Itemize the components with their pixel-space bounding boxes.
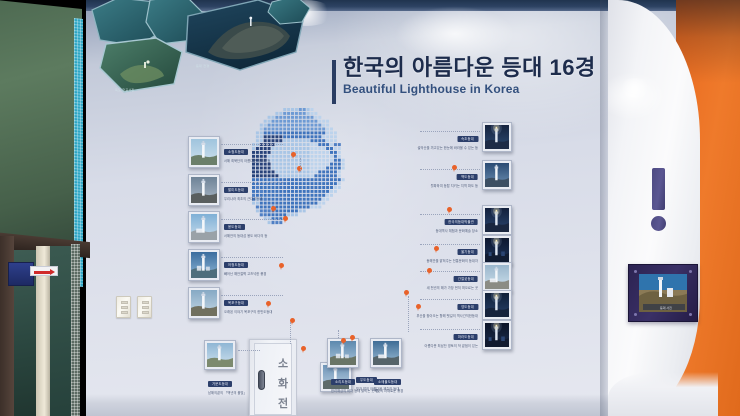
exclamation-dot	[651, 216, 666, 231]
fire-hydrant-label-3: 전	[273, 394, 293, 414]
pin-head	[416, 304, 421, 309]
lighthouse-name-badge: 백도등대	[457, 174, 478, 180]
lighthouse-name-badge: 소매물도등대	[374, 379, 401, 385]
lighthouse-label: 옹도등대서해안의 등대섬 옹도 바다의 등	[224, 215, 267, 239]
left-lighthouse-photo-2	[188, 211, 220, 243]
map-pin-3	[283, 216, 288, 225]
lighthouse-description: 우리나라 최초의 근대식등대	[224, 197, 262, 202]
right-lighthouse-photo-2	[482, 205, 512, 235]
arrow-sign-icon	[30, 266, 58, 276]
lighthouse-label: 소청도등대서해 최북단의 아름다운 낙조의 등	[224, 140, 270, 164]
photo-inner	[485, 323, 509, 347]
map-pin-4	[279, 263, 284, 272]
right-lighthouse-photo-5	[482, 290, 512, 320]
lighthouse-photo-art	[191, 252, 217, 278]
exhibit-title-block: 한국의 아름다운 등대 16경 Beautiful Lighthouse in …	[332, 56, 596, 96]
lighthouse-label: 속초등대설악산을 끼고있는 한눈에 바라볼 수 있는 등	[418, 127, 479, 151]
lighthouse-photo-art	[485, 208, 509, 232]
exclamation-mark-icon	[646, 168, 672, 230]
lighthouse-description: 설악산을 끼고있는 한눈에 바라볼 수 있는 등	[418, 146, 479, 151]
map-pin-12	[427, 268, 432, 277]
right-lighthouse-photo-6	[482, 320, 512, 350]
lighthouse-name-badge: 목포구등대	[224, 300, 248, 306]
mosaic-tile-strip-lower	[71, 244, 80, 416]
lighthouse-name-badge: 옹도등대	[224, 224, 245, 230]
lighthouse-description: 부산을 찾아오는 항해 뱃길의 역사간직한등대	[416, 314, 478, 319]
leader-line-vertical	[408, 296, 409, 332]
leader-line-vertical	[290, 322, 291, 344]
lighthouse-label: 영도등대부산을 찾아오는 항해 뱃길의 역사간직한등대	[416, 295, 478, 319]
lighthouse-description: 월파하여 등탑 지키는 지역 파도 등	[431, 184, 478, 189]
bottom-lighthouse-photo-0	[204, 340, 236, 370]
transom-glass	[0, 0, 82, 257]
pin-head	[434, 246, 439, 251]
lighthouse-label: 간절곶등대새 천년의 해가 가장 먼저 떠오르는 곳	[427, 267, 478, 291]
pin-head	[452, 165, 457, 170]
lighthouse-photo-art	[485, 238, 509, 262]
lighthouse-description: 한려해상의 바다 등대 밝히는 곳 좋	[331, 389, 378, 394]
ceiling-light-glow	[395, 6, 515, 62]
lighthouse-description: 등대역사 체험과 문화예술 장소	[436, 229, 478, 234]
frame-screw-tl	[634, 270, 637, 273]
photo-inner	[485, 265, 509, 289]
photo-inner	[191, 214, 217, 240]
lighthouse-photo-art	[485, 125, 509, 149]
pin-head	[279, 263, 284, 268]
light-switch-right[interactable]	[137, 296, 152, 318]
lighthouse-description: 새 천년의 해가 가장 먼저 떠오르는 곳	[427, 286, 478, 291]
fire-hydrant-handle[interactable]	[258, 370, 265, 390]
pin-head	[301, 346, 306, 351]
map-pin-8	[341, 338, 346, 347]
column-base	[608, 372, 718, 416]
photo-inner	[373, 341, 399, 365]
right-lighthouse-photo-1	[482, 160, 512, 190]
photo-inner	[485, 163, 509, 187]
lighthouse-name-badge: 한국의등대박물관	[444, 219, 478, 225]
right-lighthouse-photo-4	[482, 262, 512, 292]
pin-head	[266, 301, 271, 306]
lighthouse-label: 어청도등대빼어난 해안절벽 고즈넉한 풍경	[224, 253, 266, 277]
lighthouse-photo-art	[485, 323, 509, 347]
photo-inner	[191, 290, 217, 316]
lighthouse-label: 마라도등대아름다운 최남단 영토의 작 끝점이 있는	[425, 325, 478, 349]
lighthouse-photo-art	[485, 293, 509, 317]
photo-inner	[485, 125, 509, 149]
frame-screw-bl	[634, 313, 637, 316]
hex-panel-caption-left: 독도 항공사진	[115, 88, 135, 92]
title-english: Beautiful Lighthouse in Korea	[343, 82, 596, 96]
map-pin-0	[291, 152, 296, 161]
leader-line	[238, 350, 260, 351]
lighthouse-name-badge: 영도등대	[457, 304, 478, 310]
lighthouse-description: 오래된 이야기 목포구의 한반도등대	[224, 310, 272, 315]
pin-head	[427, 268, 432, 273]
map-pin-15	[452, 165, 457, 174]
map-pin-9	[350, 335, 355, 344]
entrance-door-zone	[0, 0, 90, 416]
photo-inner	[485, 293, 509, 317]
lighthouse-name-badge: 소리도등대	[331, 379, 355, 385]
lighthouse-photo-art	[191, 290, 217, 316]
lighthouse-photo-art	[373, 341, 399, 365]
lighthouse-photo-art	[485, 163, 509, 187]
light-switch-left[interactable]	[116, 296, 131, 318]
photo-inner	[191, 252, 217, 278]
lighthouse-description: 서해안의 등대섬 옹도 바다의 등	[224, 234, 267, 239]
lighthouse-photo-art	[191, 177, 217, 203]
map-pin-11	[416, 304, 421, 313]
photo-inner	[191, 139, 217, 165]
leader-line-vertical	[300, 158, 301, 172]
pin-head	[447, 207, 452, 212]
lighthouse-label: 소매물도등대쪽빛의 다채로운 풍경	[374, 370, 403, 394]
lighthouse-photo-art	[485, 265, 509, 289]
fire-hydrant-label-2: 화	[273, 374, 293, 394]
lighthouse-description: 남해의끝의 「백년의 불빛」	[208, 391, 247, 396]
lighthouse-description: 서해 최북단의 아름다운 낙조의 등	[224, 159, 270, 164]
lighthouse-name-badge: 마라도등대	[454, 334, 478, 340]
lighthouse-label: 소리도등대한려해상의 바다 등대 밝히는 곳 좋	[331, 370, 378, 394]
lighthouse-photo-art	[191, 214, 217, 240]
right-lighthouse-photo-3	[482, 235, 512, 265]
lighthouse-name-badge: 소청도등대	[224, 149, 248, 155]
lighthouse-name-badge: 울기등대	[457, 249, 478, 255]
photo-inner	[207, 343, 233, 367]
pin-head	[341, 338, 346, 343]
hex-panel-caption-right: 등대 전경	[196, 64, 209, 68]
right-lighthouse-photo-0	[482, 122, 512, 152]
lighthouse-description: 쪽빛의 다채로운 풍경	[374, 389, 403, 394]
map-pin-5	[266, 301, 271, 310]
framed-photo-caption: 등대 사진	[660, 306, 672, 310]
lighthouse-photo-art	[191, 139, 217, 165]
lighthouse-label: 한국의등대박물관등대역사 체험과 문화예술 장소	[436, 210, 478, 234]
lighthouse-photo-art	[207, 343, 233, 367]
photo-inner	[191, 177, 217, 203]
exhibit-room-scene: 독도 항공사진 등대 전경 한국의 아름다운 등대 16경 Beautiful …	[0, 0, 740, 416]
pin-head	[271, 206, 276, 211]
exclamation-bar	[652, 168, 665, 210]
left-lighthouse-photo-3	[188, 249, 220, 281]
map-pin-13	[434, 246, 439, 255]
lighthouse-name-badge: 속초등대	[457, 136, 478, 142]
pin-head	[291, 152, 296, 157]
bottom-lighthouse-photo-3	[370, 338, 402, 368]
left-lighthouse-photo-4	[188, 287, 220, 319]
pin-head	[350, 335, 355, 340]
left-lighthouse-photo-0	[188, 136, 220, 168]
left-lighthouse-photo-1	[188, 174, 220, 206]
photo-inner	[485, 238, 509, 262]
pin-head	[404, 290, 409, 295]
map-pin-7	[301, 346, 306, 355]
map-pin-14	[447, 207, 452, 216]
lighthouse-label: 팔미도등대우리나라 최초의 근대식등대	[224, 178, 262, 202]
lighthouse-label: 거문도등대남해의끝의 「백년의 불빛」	[208, 372, 247, 396]
lighthouse-name-badge: 간절곶등대	[454, 276, 478, 282]
frame-screw-br	[689, 313, 692, 316]
lighthouse-name-badge: 어청도등대	[224, 262, 248, 268]
title-korean: 한국의 아름다운 등대 16경	[343, 56, 596, 79]
pin-head	[283, 216, 288, 221]
lighthouse-description: 빼어난 해안절벽 고즈넉한 풍경	[224, 272, 266, 277]
title-accent-bar	[332, 60, 336, 104]
map-pin-2	[271, 206, 276, 215]
frame-screw-tr	[689, 270, 692, 273]
lighthouse-description: 동해안을 밝혀주는 전통문화의 등대자	[427, 259, 478, 264]
column-highlight	[618, 78, 652, 98]
lighthouse-name-badge: 거문도등대	[208, 381, 232, 387]
framed-lighthouse-photo	[628, 264, 698, 322]
lighthouse-description: 아름다운 최남단 영토의 작 끝점이 있는	[425, 344, 478, 349]
photo-inner	[485, 208, 509, 232]
lighthouse-name-badge: 팔미도등대	[224, 187, 248, 193]
fire-hydrant-label-1: 소	[273, 354, 293, 374]
